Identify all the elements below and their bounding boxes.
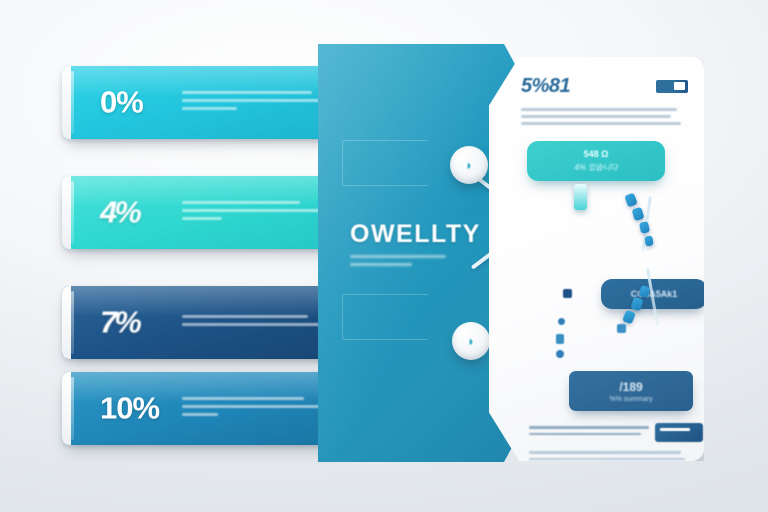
vial-icon: [574, 184, 587, 210]
bar-3-highlight-line: [71, 377, 74, 440]
bar-2-highlight-line: [71, 291, 74, 354]
accent-square-icon: [563, 289, 572, 298]
card-bottom-row: [529, 423, 688, 442]
bar-0-description: [182, 91, 332, 115]
infographic-canvas: 0% 4%: [0, 0, 768, 512]
arrow-notch-bottom: [342, 294, 428, 340]
accent-square-icon-2: [556, 334, 564, 344]
card-header: 5%81: [521, 75, 688, 98]
node-bottom-glyph: ◗: [467, 334, 475, 349]
bar-3-description: [182, 397, 334, 421]
data-badge-icon: [655, 423, 703, 442]
bar-1-body[interactable]: 4%: [62, 176, 354, 249]
card-bottom-block: [529, 423, 688, 479]
bar-3-body[interactable]: 10%: [62, 372, 354, 445]
card-bottom-paragraph: [529, 451, 688, 474]
arrow-node-bottom[interactable]: ◗: [452, 322, 490, 360]
bar-row-0[interactable]: 0%: [62, 66, 354, 139]
arrow-node-top[interactable]: ◗: [450, 146, 488, 184]
chart-badge-icon: [656, 80, 688, 93]
card-title: 5%81: [521, 75, 570, 98]
card-teal-button[interactable]: 548 Ω 4% 있습니다: [527, 141, 665, 181]
bar-0-left-cap: [62, 66, 71, 139]
teal-button-line2: 4% 있습니다: [574, 162, 617, 173]
bar-3-percent: 10%: [100, 390, 159, 426]
card-intro-paragraph: [521, 108, 688, 125]
bar-row-1[interactable]: 4%: [62, 176, 354, 249]
bar-3-left-cap: [62, 372, 71, 445]
bar-2-percent: 7%: [100, 304, 139, 340]
card-stat-box[interactable]: /189 %% summary: [569, 371, 693, 411]
arrow-notch-top: [342, 140, 428, 186]
bar-1-left-cap: [62, 176, 71, 249]
stat-label: %% summary: [609, 396, 652, 403]
stat-value: /189: [619, 380, 642, 394]
bar-2-left-cap: [62, 286, 71, 359]
bar-1-highlight-line: [71, 181, 74, 244]
bar-row-3[interactable]: 10%: [62, 372, 354, 445]
bar-1-percent: 4%: [100, 194, 139, 230]
accent-dot-icon: [558, 318, 565, 325]
bottom-row-lines: [529, 426, 649, 439]
teal-button-line1: 548 Ω: [584, 149, 609, 159]
bar-2-body[interactable]: 7%: [62, 286, 354, 359]
node-top-glyph: ◗: [465, 158, 473, 173]
accent-dot-icon-2: [556, 350, 564, 358]
bar-0-body[interactable]: 0%: [62, 66, 354, 139]
detail-card[interactable]: 5%81 548 Ω 4% 있습니다 CG8A5Ak1 /189 %% summ…: [489, 57, 704, 461]
bar-row-2[interactable]: 7%: [62, 286, 354, 359]
bar-0-percent: 0%: [100, 84, 143, 120]
bar-0-highlight-line: [71, 71, 74, 134]
